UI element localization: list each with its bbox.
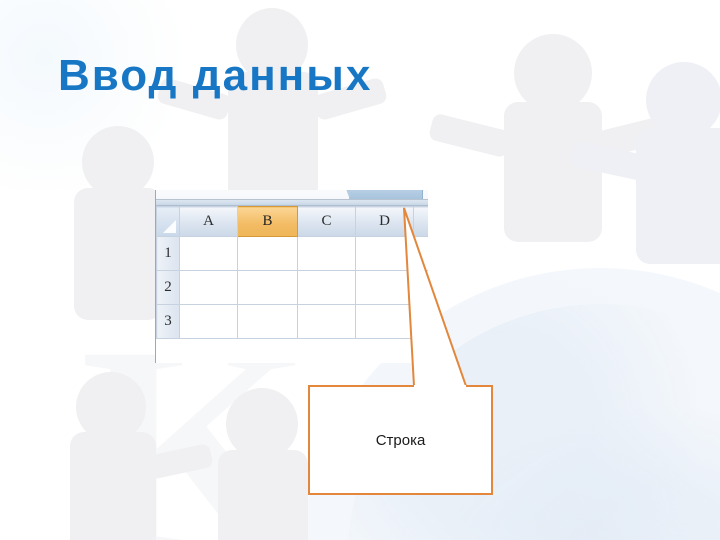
excel-grid: A B C D 1 [156, 206, 428, 339]
page-title: Ввод данных [58, 51, 372, 101]
cell-a1[interactable] [180, 237, 238, 271]
paper-doll-1 [210, 0, 340, 220]
table-row: 1 [157, 237, 429, 271]
callout-label-container: Строка [309, 386, 492, 494]
row-header-2[interactable]: 2 [157, 271, 180, 305]
column-header-a[interactable]: A [180, 207, 238, 237]
cell-d1[interactable] [356, 237, 414, 271]
cell-e3-partial[interactable] [414, 305, 429, 339]
column-header-row: A B C D [157, 207, 429, 237]
cell-a2[interactable] [180, 271, 238, 305]
table-row: 3 [157, 305, 429, 339]
cell-a3[interactable] [180, 305, 238, 339]
excel-formula-bar: сентябрь · · · [156, 190, 428, 200]
column-header-c[interactable]: C [298, 207, 356, 237]
table-row: 2 [157, 271, 429, 305]
cell-d2[interactable] [356, 271, 414, 305]
cell-c3[interactable] [298, 305, 356, 339]
cell-e2-partial[interactable] [414, 271, 429, 305]
column-header-e-partial[interactable] [414, 207, 429, 237]
row-header-1[interactable]: 1 [157, 237, 180, 271]
excel-screenshot: сентябрь · · · A B C D [155, 190, 428, 363]
cell-b3[interactable] [238, 305, 298, 339]
cell-b1[interactable] [238, 237, 298, 271]
slide: K [0, 0, 720, 540]
cell-d3[interactable] [356, 305, 414, 339]
select-all-triangle-icon [163, 220, 176, 233]
paper-doll-5 [64, 372, 184, 540]
column-header-d[interactable]: D [356, 207, 414, 237]
excel-ribbon-tab[interactable]: · · · [349, 190, 423, 199]
row-header-3[interactable]: 3 [157, 305, 180, 339]
paper-doll-3 [628, 56, 720, 276]
callout-label: Строка [376, 432, 426, 449]
column-header-b[interactable]: B [238, 207, 298, 237]
cell-c2[interactable] [298, 271, 356, 305]
ribbon-tab-dots: · · · [356, 190, 412, 193]
paper-doll-2 [490, 30, 620, 260]
cell-e1-partial[interactable] [414, 237, 429, 271]
select-all-corner[interactable] [157, 207, 180, 237]
cell-c1[interactable] [298, 237, 356, 271]
cell-b2[interactable] [238, 271, 298, 305]
